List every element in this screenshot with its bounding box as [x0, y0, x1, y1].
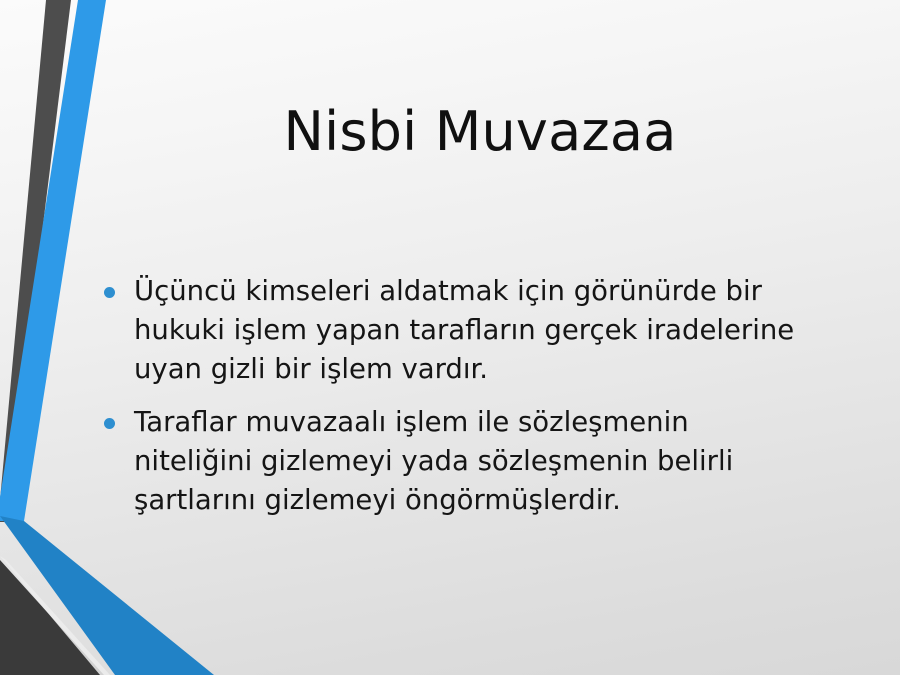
- stripe-separator-lower: [0, 556, 110, 675]
- bullet-dot-icon: [104, 418, 115, 429]
- list-item: Taraflar muvazaalı işlem ile sözleşmenin…: [104, 403, 844, 520]
- presentation-slide: Nisbi Muvazaa Üçüncü kimseleri aldatmak …: [0, 0, 900, 675]
- list-item-text: Üçüncü kimseleri aldatmak için görünürde…: [134, 272, 826, 389]
- stripe-gray-upper: [0, 0, 71, 522]
- bullet-marker: [104, 272, 134, 298]
- bullet-list: Üçüncü kimseleri aldatmak için görünürde…: [104, 272, 844, 534]
- bullet-marker: [104, 403, 134, 429]
- stripe-gray-lower: [0, 520, 104, 675]
- bullet-dot-icon: [104, 287, 115, 298]
- page-title: Nisbi Muvazaa: [120, 103, 840, 161]
- list-item-text: Taraflar muvazaalı işlem ile sözleşmenin…: [134, 403, 799, 520]
- list-item: Üçüncü kimseleri aldatmak için görünürde…: [104, 272, 844, 389]
- stripe-blue-lower: [0, 516, 214, 675]
- stripe-blue-upper: [0, 0, 106, 521]
